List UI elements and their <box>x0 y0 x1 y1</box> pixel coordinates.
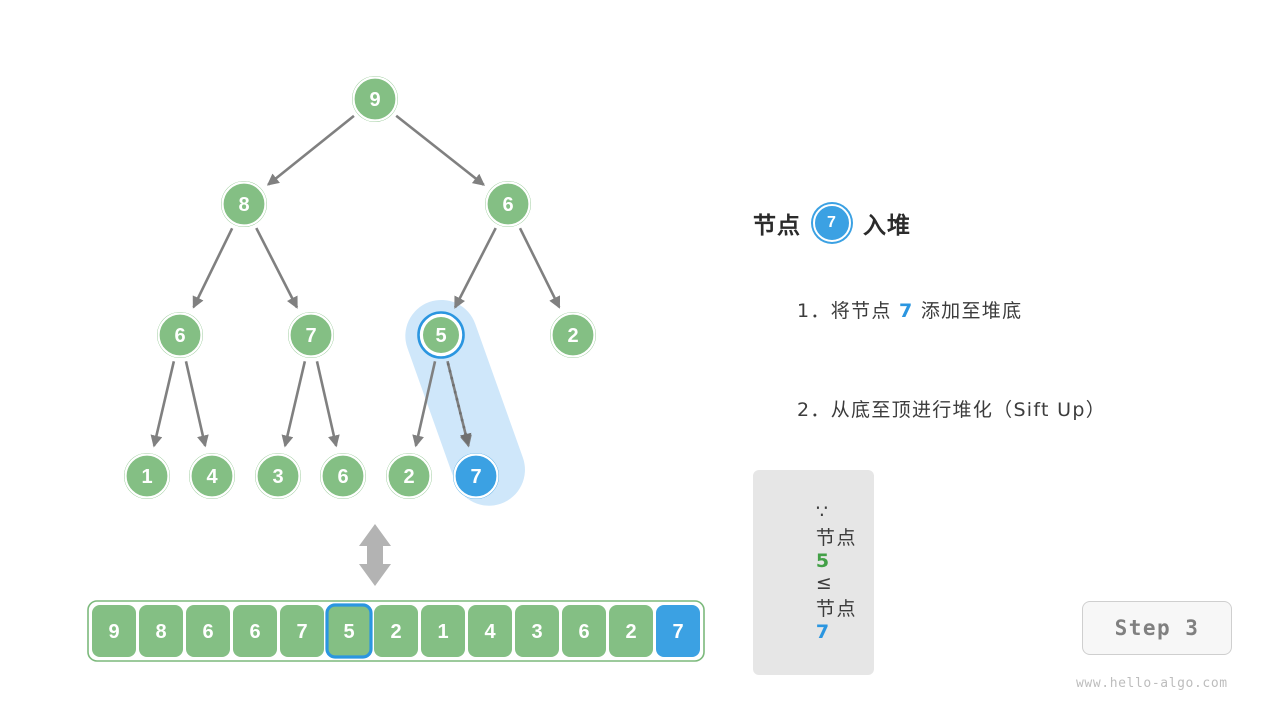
tree-edge <box>317 361 336 445</box>
tree-node: 1 <box>124 453 170 499</box>
step-1-text-a: 将节点 <box>831 300 899 322</box>
tree-node-value: 5 <box>435 325 446 347</box>
tree-node-value: 1 <box>141 466 152 488</box>
comparison-note: ∵ 节点 5 ≤ 节点 7 <box>753 470 874 675</box>
array-cell-value: 9 <box>108 621 119 643</box>
step-1-text-b: 添加至堆底 <box>914 300 1023 322</box>
tree-node: 9 <box>352 76 398 122</box>
panel-title: 节点 7 入堆 <box>753 200 1223 246</box>
array-cell: 7 <box>656 605 700 657</box>
panel-title-suffix: 入堆 <box>863 206 911 240</box>
tree-node-value: 6 <box>174 325 185 347</box>
note-symbol: ∵ <box>816 501 830 523</box>
title-node-badge: 7 <box>813 204 851 242</box>
step-line-1: 1．将节点 7 添加至堆底 <box>753 274 1223 345</box>
array-cell-value: 6 <box>249 621 260 643</box>
array-cell: 9 <box>92 605 136 657</box>
tree-node: 6 <box>320 453 366 499</box>
tree-node-value: 3 <box>272 466 283 488</box>
watermark: www.hello-algo.com <box>1076 676 1228 691</box>
tree-node-value: 6 <box>502 194 513 216</box>
tree-edge <box>194 228 233 307</box>
tree-edge <box>520 228 559 307</box>
tree-node-value: 8 <box>238 194 249 216</box>
array-cell: 8 <box>139 605 183 657</box>
array-cell-value: 3 <box>531 621 542 643</box>
tree-node-value: 2 <box>567 325 578 347</box>
array-cell: 6 <box>233 605 277 657</box>
tree-edge <box>285 361 305 446</box>
tree-edge <box>268 116 354 185</box>
step-1-index: 1． <box>797 300 831 322</box>
tree-edge <box>256 228 297 307</box>
array-cell: 3 <box>515 605 559 657</box>
array-cell-value: 2 <box>625 621 636 643</box>
note-operator: ≤ <box>816 572 834 594</box>
note-right-value: 7 <box>816 621 831 643</box>
array-cell: 4 <box>468 605 512 657</box>
note-left-label: 节点 <box>816 527 857 549</box>
tree-node: 6 <box>485 181 531 227</box>
step-badge: Step 3 <box>1082 601 1232 655</box>
tree-node-value: 9 <box>369 89 380 111</box>
tree-node: 5 <box>418 312 464 358</box>
array-cell-value: 5 <box>343 621 354 643</box>
tree-node: 2 <box>386 453 432 499</box>
tree-node-value: 4 <box>206 466 218 488</box>
array-cell: 6 <box>562 605 606 657</box>
step-2-index: 2． <box>797 399 831 421</box>
tree-nodes: 9866752143627 <box>124 76 596 499</box>
array-cell: 2 <box>609 605 653 657</box>
tree-node-value: 6 <box>337 466 348 488</box>
tree-node: 4 <box>189 453 235 499</box>
tree-edge <box>186 361 205 445</box>
diagram-canvas: 9866752143627 9866752143627 节点 7 入堆 1．将节… <box>0 0 1280 720</box>
tree-node: 7 <box>453 453 499 499</box>
step-line-2: 2．从底至顶进行堆化（Sift Up） <box>753 373 1223 444</box>
array-cell-value: 4 <box>484 621 496 643</box>
array-cell: 5 <box>327 605 371 657</box>
note-right-label: 节点 <box>816 598 857 620</box>
tree-edge <box>396 116 483 185</box>
array-cell-value: 1 <box>437 621 448 643</box>
array-cell-value: 6 <box>202 621 213 643</box>
tree-node: 6 <box>157 312 203 358</box>
array-representation: 9866752143627 <box>88 601 704 661</box>
tree-node-value: 7 <box>470 466 481 488</box>
array-cell-value: 6 <box>578 621 589 643</box>
array-cell: 1 <box>421 605 465 657</box>
tree-node: 7 <box>288 312 334 358</box>
array-cell-value: 7 <box>296 621 307 643</box>
tree-edge <box>455 228 496 307</box>
array-cell-value: 7 <box>672 621 683 643</box>
tree-node: 2 <box>550 312 596 358</box>
tree-node-value: 2 <box>403 466 414 488</box>
tree-edge <box>154 361 174 446</box>
tree-node: 8 <box>221 181 267 227</box>
tree-node: 3 <box>255 453 301 499</box>
array-cell: 6 <box>186 605 230 657</box>
array-cell: 2 <box>374 605 418 657</box>
tree-node-value: 7 <box>305 325 316 347</box>
tree-array-link-arrow <box>359 524 391 586</box>
array-cell-value: 2 <box>390 621 401 643</box>
array-cell-value: 8 <box>155 621 166 643</box>
step-2-text-a: 从底至顶进行堆化（Sift Up） <box>831 399 1106 421</box>
panel-title-prefix: 节点 <box>753 206 801 240</box>
note-left-value: 5 <box>816 550 831 572</box>
array-cell: 7 <box>280 605 324 657</box>
step-1-value: 7 <box>899 300 914 322</box>
